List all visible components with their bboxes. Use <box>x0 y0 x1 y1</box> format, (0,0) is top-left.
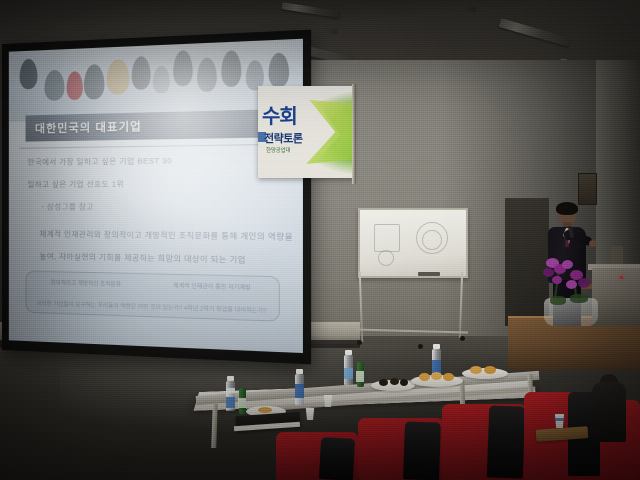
auditorium-seat[interactable] <box>358 418 450 480</box>
slide-callout-phrase-left: 창의적이고 개방적인 조직문화 <box>51 278 122 288</box>
whiteboard-sketch <box>374 224 400 252</box>
whiteboard-marker-tray <box>418 272 440 276</box>
auditorium-seat[interactable] <box>442 404 534 480</box>
slide-callout-row: 창의적이고 개방적인 조직문화 체계적 인재관리 통한 자기계발 <box>26 278 279 293</box>
fruit-item <box>484 366 496 374</box>
slide-photo-object <box>197 57 217 92</box>
snack-item <box>390 378 399 385</box>
seated-attendee <box>592 382 626 442</box>
slide-photo-object <box>67 71 83 100</box>
status-led-indicator <box>620 276 623 279</box>
snack-item <box>400 379 408 386</box>
banner-title-text: 수회 <box>262 100 297 129</box>
seat-armrest <box>403 421 441 480</box>
slide-photo-object <box>222 50 242 87</box>
photo-scene: 대한민국의 대표기업 한국에서 가장 일하고 싶은 기업 BEST 30 일하고… <box>0 0 640 480</box>
slide-photo-object <box>83 64 104 100</box>
banner-subtitle-text: 전략토론 <box>264 130 302 146</box>
presenter-hand <box>589 240 597 247</box>
fruit-item <box>431 372 442 380</box>
banner-footer-text: 한양공업대 <box>266 146 290 154</box>
whiteboard-sketch <box>422 230 442 250</box>
slide-photo-object <box>153 66 170 94</box>
bottle-label <box>226 388 235 393</box>
slide-title: 대한민국의 대표기업 <box>35 118 142 137</box>
slide-bullet: 일하고 싶은 기업 선호도 1위 <box>28 177 291 190</box>
wall-panel <box>611 246 623 266</box>
bottle-label <box>356 371 364 382</box>
slide-photo-object <box>268 52 289 87</box>
snack-item <box>379 379 388 386</box>
orchid-petal <box>562 260 573 269</box>
auditorium-seat[interactable] <box>276 432 364 480</box>
slide-callout-phrase-right: 체계적 인재관리 통한 자기계발 <box>173 281 251 291</box>
orchid-petal <box>566 280 577 289</box>
slide-bullet: 높여, 자아실현의 기회를 제공하는 희망의 대상이 되는 기업 <box>39 251 290 267</box>
whiteboard-caster <box>357 340 362 345</box>
banner-swoosh-graphic <box>304 100 354 164</box>
fruit-item <box>419 373 430 381</box>
orchid-petal <box>552 276 562 284</box>
slide-bullet: 체계적 인재관리와 창의적이고 개방적인 조직문화를 통해 개인의 역량을 <box>39 228 290 242</box>
fruit-item <box>443 373 454 381</box>
mobile-whiteboard[interactable] <box>358 208 468 278</box>
wall-banner: 수회 전략토론 한양공업대 <box>258 86 354 178</box>
bottle-label <box>238 398 246 408</box>
flower-leaf <box>550 296 566 305</box>
slide-photo-object <box>20 59 38 90</box>
slide-callout-sentence: 이러한 기업들이 요구하는 우리들의 역량은 어떤 것이 있는가? 4학년 2학… <box>32 299 272 315</box>
bottle-label <box>344 368 353 379</box>
slide-bullet: - 삼성그룹 참고 <box>41 201 290 213</box>
bottle-label <box>226 397 235 408</box>
slide-callout-box: 창의적이고 개방적인 조직문화 체계적 인재관리 통한 자기계발 이러한 기업들… <box>25 271 280 322</box>
wall-speaker-icon <box>578 173 597 205</box>
whiteboard-sketch <box>378 250 394 266</box>
bottle-label <box>295 384 304 398</box>
orchid-petal <box>543 268 554 277</box>
seat-armrest <box>487 405 525 478</box>
presenter-hair <box>556 202 578 215</box>
orchid-petal <box>578 278 590 288</box>
slide-photo-object <box>44 70 64 101</box>
slide-bullet: 한국에서 가장 일하고 싶은 기업 BEST 30 <box>28 153 291 167</box>
cup-band <box>554 418 565 421</box>
whiteboard-caster <box>418 344 423 349</box>
snack-item <box>258 407 272 413</box>
fruit-item <box>470 366 482 374</box>
orchid-arrangement <box>540 258 602 326</box>
slide-title-bar: 대한민국의 대표기업 <box>25 109 284 142</box>
projection-screen: 대한민국의 대표기업 한국에서 가장 일하고 싶은 기업 BEST 30 일하고… <box>2 30 311 365</box>
slide-body: 한국에서 가장 일하고 싶은 기업 BEST 30 일하고 싶은 기업 선호도 … <box>20 144 290 279</box>
slide-photo-object <box>106 59 129 95</box>
whiteboard-caster <box>460 336 465 341</box>
seat-armrest <box>319 437 355 480</box>
banner-hanging-rod <box>352 84 356 184</box>
slide-photo-object <box>132 56 151 90</box>
flower-leaf <box>570 294 588 303</box>
slide-photo-object <box>173 50 193 87</box>
